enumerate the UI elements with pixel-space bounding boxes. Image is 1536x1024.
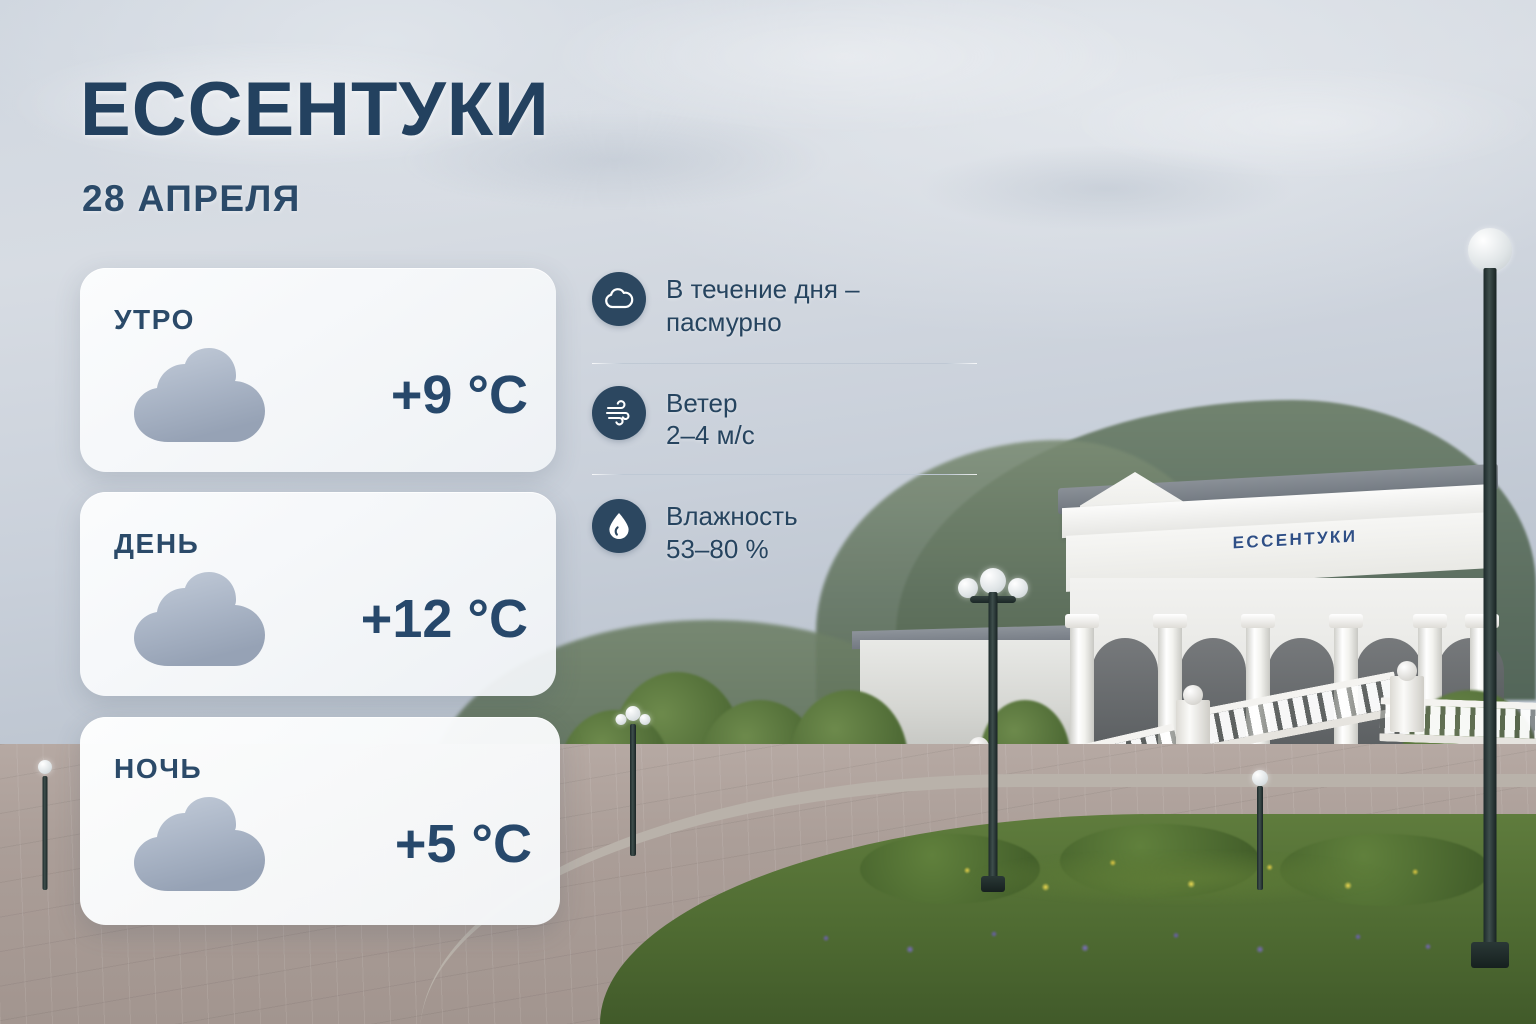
lamppost-foreground [1455,228,1525,968]
forecast-card-temperature: +9 °C [391,364,528,426]
forecast-card-temperature: +12 °C [361,588,528,650]
condition-line-2: 2–4 м/с [666,419,755,452]
conditions-panel: В течение дня – пасмурно Ветер 2–4 м/с [592,272,984,566]
lamppost-mid [958,556,1028,892]
condition-line-1: Влажность [666,500,798,533]
lamp-globe [639,714,650,725]
lamp-pole [43,776,48,890]
forecast-card-label: НОЧЬ [114,753,202,785]
forecast-card-label: ДЕНЬ [114,528,199,560]
lamp-pole [1257,786,1263,890]
lamp-globe [1252,770,1268,786]
condition-text-wind: Ветер 2–4 м/с [666,386,755,453]
lamppost-far [1240,770,1280,890]
lamp-pole [630,724,636,856]
forecast-card-morning[interactable]: УТРО +9 °C [80,268,556,472]
condition-text-humidity: Влажность 53–80 % [666,499,798,566]
page-title: ЕССЕНТУКИ [80,72,550,148]
condition-text-sky: В течение дня – пасмурно [666,272,860,339]
page-date: 28 АПРЕЛЯ [82,178,301,220]
forecast-card-night[interactable]: НОЧЬ +5 °C [80,717,560,925]
lamp-base [1471,942,1509,968]
humidity-drop-icon [592,499,646,553]
lamppost-path-b [30,760,60,890]
cloud-icon [124,346,276,455]
cloud-outline-icon [592,272,646,326]
cloud-icon [124,795,276,904]
balustrade-post [1390,676,1424,732]
lamp-base [981,876,1005,892]
forecast-card-label: УТРО [114,304,195,336]
weather-infographic: ЕССЕНТУКИ [0,0,1536,1024]
cloud-icon [124,570,276,679]
forecast-card-day[interactable]: ДЕНЬ +12 °C [80,492,556,696]
lamp-globe [38,760,52,774]
lamp-pole [989,592,998,892]
condition-line-2: 53–80 % [666,533,798,566]
lamp-globe [980,568,1006,594]
condition-line-1: Ветер [666,387,755,420]
lamp-globe [1008,578,1028,598]
lamp-pole [1484,268,1497,968]
lamp-globe [616,714,627,725]
condition-line-2: пасмурно [666,306,860,339]
forecast-card-temperature: +5 °C [395,813,532,875]
condition-row-sky[interactable]: В течение дня – пасмурно [592,272,984,363]
condition-line-1: В течение дня – [666,273,860,306]
purple-flowerbed [770,906,1470,976]
lamp-globe [958,578,978,598]
condition-row-wind[interactable]: Ветер 2–4 м/с [592,364,984,475]
condition-row-humidity[interactable]: Влажность 53–80 % [592,475,984,566]
lamp-globe [1468,228,1512,272]
wind-icon [592,386,646,440]
lamppost-path-a [616,706,650,856]
